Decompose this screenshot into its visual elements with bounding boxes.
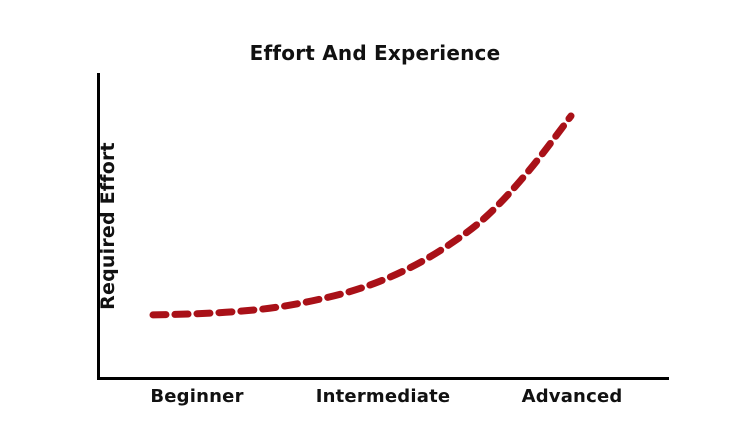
x-tick-beginner: Beginner xyxy=(150,386,243,407)
effort-curve-path xyxy=(153,116,571,315)
series-required-effort xyxy=(97,73,669,380)
chart-figure: Effort And Experience Required Effort Be… xyxy=(0,0,750,436)
x-axis-tick-labels: Beginner Intermediate Advanced xyxy=(97,386,669,416)
plot-area xyxy=(97,73,669,380)
x-tick-intermediate: Intermediate xyxy=(316,386,451,407)
chart-title: Effort And Experience xyxy=(0,41,750,65)
x-tick-advanced: Advanced xyxy=(522,386,623,407)
y-axis-label-container: Required Effort xyxy=(0,74,70,378)
